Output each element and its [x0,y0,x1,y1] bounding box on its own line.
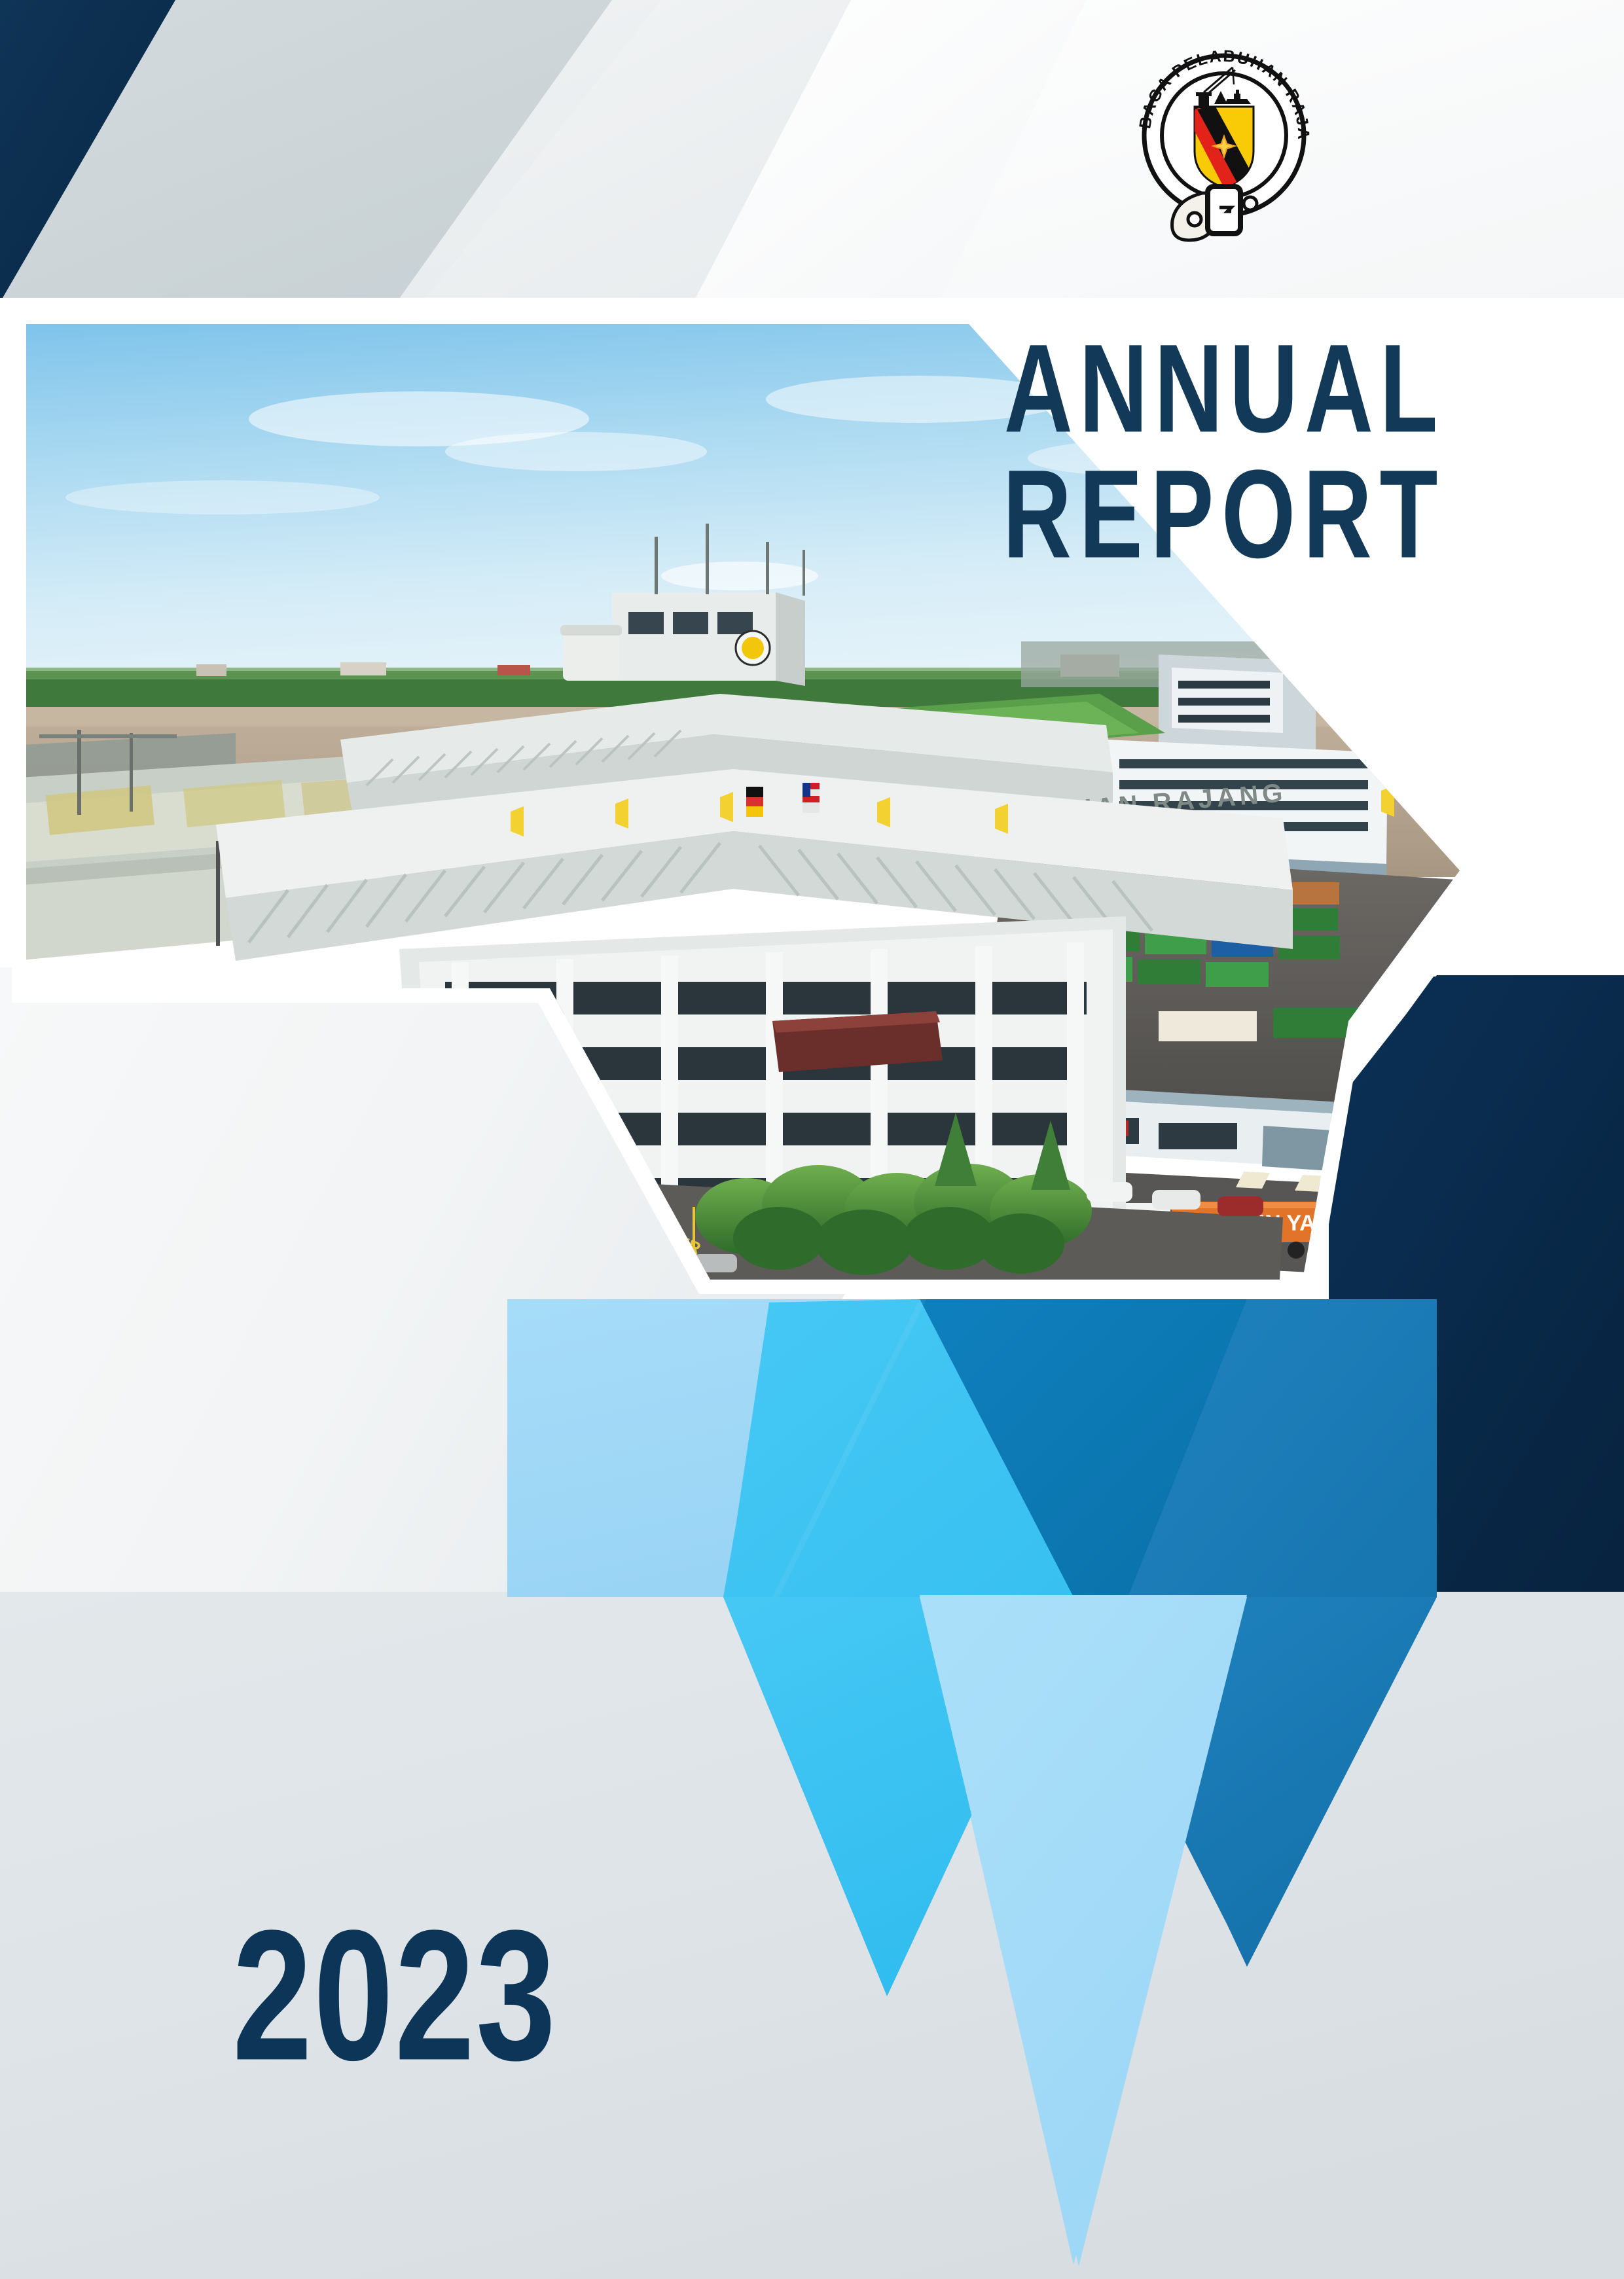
lembaga-pelabuhan-rajang-logo: LEMBAGA PELABUHAN RAJANG [1129,36,1319,252]
svg-text:MEMBER: MEMBER [518,1205,596,1251]
title-line-report: REPORT [939,433,1510,594]
svg-text:BOARD: BOARD [499,1187,564,1229]
cover-year: 2023 [232,1888,557,2102]
annual-report-cover: SIN YANG [0,0,1624,2279]
cover-title: ANNUAL REPORT [929,308,1519,583]
